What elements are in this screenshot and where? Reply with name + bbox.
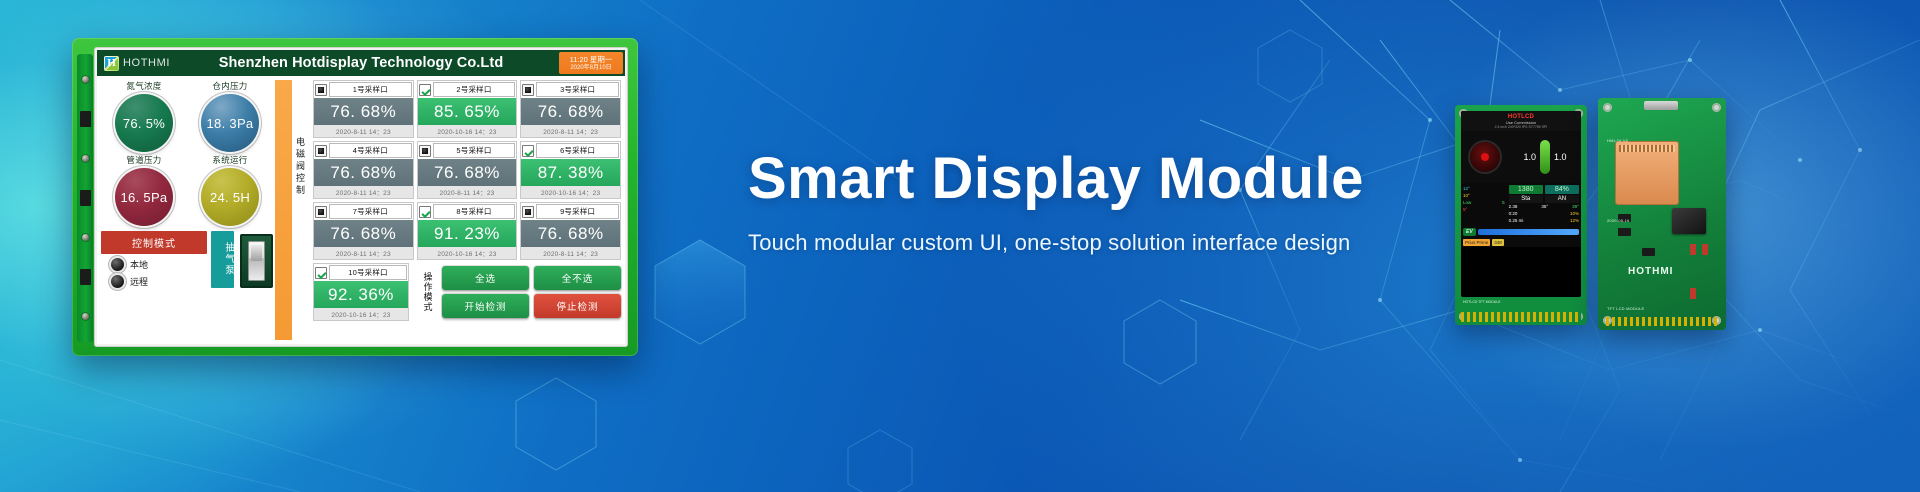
- gauge-label: 氮气浓度: [101, 80, 187, 92]
- lcd-box-84: 84%: [1545, 185, 1579, 194]
- operation-buttons: 全选 全不选 开始检测 停止检测: [442, 263, 621, 321]
- sample-header: 10号采样口: [314, 264, 408, 281]
- sample-header: 9号采样口: [521, 203, 620, 220]
- ev-badge: EV: [1463, 228, 1476, 236]
- checkbox-icon[interactable]: [522, 206, 534, 218]
- sample-timestamp: 2020-8-11 14：23: [314, 186, 413, 198]
- sample-timestamp: 2020-8-11 14：23: [418, 186, 517, 198]
- sample-card[interactable]: 5号采样口 76. 68% 2020-8-11 14：23: [417, 141, 518, 199]
- sample-value: 76. 68%: [314, 159, 413, 186]
- lcd-midsection: 1.0 1.0: [1461, 131, 1581, 183]
- lcd-stat-row: 10°: [1463, 192, 1505, 199]
- mounting-hole-icon: [82, 76, 89, 83]
- lcd-module-board: HOTLCD Use Commission 2.4 inch 240*320 I…: [1455, 105, 1587, 325]
- lcd-stat-label: 5°: [1463, 207, 1467, 212]
- usb-connector-icon: [1644, 101, 1678, 110]
- sample-name: 2号采样口: [433, 82, 516, 97]
- gauge-cell: 仓内压力 18. 3Pa: [187, 80, 273, 152]
- capacitor-icon: [1702, 244, 1708, 255]
- sample-timestamp: 2020-10-16 14：23: [521, 186, 620, 198]
- control-mode-panel: 控制模式 本地 远程: [101, 231, 207, 288]
- lcd-row-238: 2.38: [1509, 204, 1518, 209]
- radio-icon[interactable]: [111, 258, 124, 271]
- company-title: Shenzhen Hotdisplay Technology Co.Ltd: [97, 55, 625, 71]
- sample-value: 76. 68%: [418, 159, 517, 186]
- sample-name: 9号采样口: [536, 204, 619, 219]
- lcd-gauge-box: 1.0 1.0: [1509, 131, 1581, 183]
- clock-widget: 11:20 星期一 2020年8月10日: [559, 52, 623, 74]
- sample-name: 4号采样口: [329, 143, 412, 158]
- start-detection-button[interactable]: 开始检测: [442, 294, 529, 318]
- chip-icon: [80, 190, 91, 206]
- sample-timestamp: 2020-8-11 14：23: [314, 247, 413, 259]
- sample-name: 1号采样口: [329, 82, 412, 97]
- prius-badge: Prius Prime: [1463, 239, 1490, 246]
- sample-timestamp: 2020-8-11 14：23: [314, 125, 413, 137]
- pin-header-icon: [1606, 317, 1718, 326]
- device-side-pcb: [77, 54, 93, 342]
- lcd-left-stats: 12° 10° Low 5 5°: [1461, 183, 1507, 226]
- lcd-box-row: 1380 84%: [1509, 185, 1579, 194]
- sample-header: 6号采样口: [521, 142, 620, 159]
- gauge-label: 管道压力: [101, 154, 187, 166]
- radio-option-local[interactable]: 本地: [101, 254, 207, 271]
- lcd-row-12pct: 12%: [1570, 218, 1579, 223]
- sample-timestamp: 2020-10-16 14：23: [418, 125, 517, 137]
- lcd-right-stats: 1380 84% Sta AN 2.38 35° 39° 0:20 10%: [1507, 183, 1581, 226]
- operation-mode-label: 操作模式: [416, 263, 438, 321]
- screen-header: H HOTHMI Shenzhen Hotdisplay Technology …: [97, 50, 625, 76]
- lcd-stat-row: 0.25 mi 12%: [1509, 217, 1579, 224]
- sample-card[interactable]: 7号采样口 76. 68% 2020-8-11 14：23: [313, 202, 414, 260]
- sample-value: 85. 65%: [418, 98, 517, 125]
- mounting-hole-icon: [82, 313, 89, 320]
- gauge-value: 16. 5Pa: [115, 168, 173, 226]
- sample-name: 7号采样口: [329, 204, 412, 219]
- sample-name: 6号采样口: [536, 143, 619, 158]
- radio-option-remote[interactable]: 远程: [101, 271, 207, 288]
- rocker-switch-icon[interactable]: [248, 241, 265, 281]
- sample-value: 76. 68%: [521, 98, 620, 125]
- mounting-hole-icon: [82, 155, 89, 162]
- lcd-row-39: 39°: [1572, 204, 1579, 209]
- lcd-row-020: 0:20: [1509, 211, 1518, 216]
- sample-name: 3号采样口: [536, 82, 619, 97]
- lcd-stat-row: 0:20 10%: [1509, 210, 1579, 217]
- smd-chip-icon: [1642, 248, 1655, 256]
- radio-icon[interactable]: [111, 275, 124, 288]
- gauge-cell: 管道压力 16. 5Pa: [101, 154, 187, 226]
- deselect-all-button[interactable]: 全不选: [534, 266, 621, 290]
- lcd-box-row: Sta AN: [1509, 195, 1579, 203]
- ffc-connector-icon: [1616, 142, 1678, 204]
- sample-card[interactable]: 1号采样口 76. 68% 2020-8-11 14：23: [313, 80, 414, 138]
- screen-bezel: H HOTHMI Shenzhen Hotdisplay Technology …: [94, 47, 628, 347]
- sample-value: 76. 68%: [521, 220, 620, 247]
- sample-timestamp: 2020-8-11 14：23: [521, 247, 620, 259]
- button-row: 全选 全不选: [442, 266, 621, 290]
- sample-value: 92. 36%: [314, 281, 408, 308]
- number-badge: 348: [1492, 239, 1504, 246]
- sample-header: 2号采样口: [418, 81, 517, 98]
- chip-icon: [80, 111, 91, 127]
- lcd-stat-label: 10°: [1463, 193, 1470, 198]
- gauge-label: 系统运行: [187, 154, 273, 166]
- sample-timestamp: 2020-10-16 14：23: [314, 308, 408, 320]
- stop-detection-button[interactable]: 停止检测: [534, 294, 621, 318]
- pin-header-icon: [1461, 312, 1581, 322]
- gauge-grid: 氮气浓度 76. 5% 仓内压力 18. 3Pa 管道压力 16. 5Pa: [101, 80, 273, 228]
- lcd-spec: 2.4 inch 240*320 IPS ST7789 SPI: [1464, 125, 1578, 129]
- lcd-board-footer: HOTLCD TFT MODULE: [1461, 300, 1581, 322]
- lcd-stat-value: 5: [1502, 200, 1505, 205]
- silk-label: HMI-24-V2: [1607, 138, 1628, 143]
- checkbox-icon[interactable]: [419, 84, 431, 96]
- gauge-value: 76. 5%: [115, 94, 173, 152]
- sample-header: 3号采样口: [521, 81, 620, 98]
- screen-body: 氮气浓度 76. 5% 仓内压力 18. 3Pa 管道压力 16. 5Pa: [97, 76, 625, 344]
- capacitor-icon: [1690, 244, 1696, 255]
- operation-area: 操作模式 全选 全不选 开始检测 停止检测: [412, 263, 621, 321]
- sample-name: 10号采样口: [329, 265, 407, 280]
- checkbox-icon[interactable]: [522, 145, 534, 157]
- sample-card[interactable]: 3号采样口 76. 68% 2020-8-11 14：23: [520, 80, 621, 138]
- sample-card[interactable]: 6号采样口 87. 38% 2020-10-16 14：23: [520, 141, 621, 199]
- lcd-footer: EV: [1461, 226, 1581, 238]
- capacitor-icon: [1690, 288, 1696, 299]
- lcd-stat-label: 12°: [1463, 186, 1470, 191]
- select-all-button[interactable]: 全选: [442, 266, 529, 290]
- sample-value: 91. 23%: [418, 220, 517, 247]
- checkbox-icon[interactable]: [315, 84, 327, 96]
- lcd-dial-box: [1461, 131, 1509, 183]
- sample-card[interactable]: 2号采样口 85. 65% 2020-10-16 14：23: [417, 80, 518, 138]
- clock-time: 11:20 星期一: [559, 55, 623, 64]
- valve-control-label: 电磁阀控制: [292, 76, 310, 344]
- lcd-value-right: 1.0: [1554, 152, 1567, 162]
- gauge-label: 仓内压力: [187, 80, 273, 92]
- mounting-hole-icon: [1712, 103, 1721, 112]
- gauge-value: 18. 3Pa: [201, 94, 259, 152]
- pcb-module-board: HMI-24-V2 2020-08-16 TFT LCD MODULE HOTH…: [1598, 98, 1726, 330]
- silk-label: 2020-08-16: [1607, 218, 1629, 223]
- pump-label: 抽气泵: [211, 231, 234, 288]
- chip-icon: [80, 269, 91, 285]
- lcd-unit-sta: Sta: [1509, 195, 1543, 203]
- accent-band: [275, 80, 292, 340]
- checkbox-icon[interactable]: [522, 84, 534, 96]
- sample-card[interactable]: 9号采样口 76. 68% 2020-8-11 14：23: [520, 202, 621, 260]
- control-mode-title: 控制模式: [101, 231, 207, 254]
- progress-bar: [1478, 229, 1579, 235]
- sample-header: 1号采样口: [314, 81, 413, 98]
- sampling-bottom-row: 10号采样口 92. 36% 2020-10-16 14：23 操作模式 全选: [313, 263, 621, 321]
- lcd-stat-label: Low: [1463, 200, 1471, 205]
- lcd-stat-row: 12°: [1463, 185, 1505, 192]
- button-row: 开始检测 停止检测: [442, 294, 621, 318]
- sample-header: 8号采样口: [418, 203, 517, 220]
- sample-card[interactable]: 10号采样口 92. 36% 2020-10-16 14：23: [313, 263, 409, 321]
- smd-chip-icon: [1618, 228, 1631, 236]
- rocker-switch[interactable]: [240, 234, 273, 288]
- sample-header: 4号采样口: [314, 142, 413, 159]
- lcd-row-35: 35°: [1541, 204, 1548, 209]
- lcd-stat-row: Low 5: [1463, 199, 1505, 206]
- hmi-screen: H HOTHMI Shenzhen Hotdisplay Technology …: [97, 50, 625, 344]
- sample-card[interactable]: 4号采样口 76. 68% 2020-8-11 14：23: [313, 141, 414, 199]
- sample-timestamp: 2020-8-11 14：23: [521, 125, 620, 137]
- radio-label: 本地: [130, 258, 148, 271]
- ic-chip-icon: [1672, 208, 1706, 234]
- lcd-value-left: 1.0: [1523, 152, 1536, 162]
- vertical-bar-icon: [1540, 140, 1550, 174]
- radio-label: 远程: [130, 275, 148, 288]
- lcd-row-025: 0.25 mi: [1509, 218, 1524, 223]
- lcd-row-10pct: 10%: [1570, 211, 1579, 216]
- sampling-grid: 1号采样口 76. 68% 2020-8-11 14：23 2号采样口: [313, 80, 621, 260]
- board-silkscreen: HOTLCD TFT MODULE: [1463, 300, 1501, 304]
- brand-silkscreen: HOTHMI: [1628, 266, 1673, 277]
- checkbox-icon[interactable]: [315, 267, 327, 279]
- mounting-hole-icon: [82, 234, 89, 241]
- lcd-header: HOTLCD Use Commission 2.4 inch 240*320 I…: [1461, 111, 1581, 131]
- sample-value: 87. 38%: [521, 159, 620, 186]
- headline-block: Smart Display Module Touch modular custo…: [748, 150, 1448, 256]
- sample-header: 7号采样口: [314, 203, 413, 220]
- lcd-screen: HOTLCD Use Commission 2.4 inch 240*320 I…: [1461, 111, 1581, 297]
- clock-date: 2020年8月10日: [559, 64, 623, 72]
- lcd-footer-2: Prius Prime 348: [1461, 238, 1581, 247]
- page-subtitle: Touch modular custom UI, one-stop soluti…: [748, 230, 1448, 256]
- page-title: Smart Display Module: [748, 150, 1448, 208]
- lcd-stat-row: 5°: [1463, 206, 1505, 213]
- lcd-unit-an: AN: [1545, 195, 1579, 203]
- checkbox-icon[interactable]: [315, 206, 327, 218]
- sample-name: 8号采样口: [433, 204, 516, 219]
- sample-header: 5号采样口: [418, 142, 517, 159]
- sample-value: 76. 68%: [314, 220, 413, 247]
- checkbox-icon[interactable]: [419, 145, 431, 157]
- lcd-stat-row: 2.38 35° 39°: [1509, 203, 1579, 210]
- sample-card[interactable]: 8号采样口 91. 23% 2020-10-16 14：23: [417, 202, 518, 260]
- gauge-cell: 氮气浓度 76. 5%: [101, 80, 187, 152]
- gauge-value: 24. 5H: [201, 168, 259, 226]
- checkbox-icon[interactable]: [315, 145, 327, 157]
- sample-name: 5号采样口: [433, 143, 516, 158]
- hmi-device: H HOTHMI Shenzhen Hotdisplay Technology …: [72, 38, 638, 356]
- gauge-cell: 系统运行 24. 5H: [187, 154, 273, 226]
- gauges-panel: 氮气浓度 76. 5% 仓内压力 18. 3Pa 管道压力 16. 5Pa: [97, 76, 275, 344]
- control-mode-block: 控制模式 本地 远程 抽气泵: [101, 231, 273, 288]
- sample-timestamp: 2020-10-16 14：23: [418, 247, 517, 259]
- lcd-data-rows: 12° 10° Low 5 5° 1380: [1461, 183, 1581, 226]
- banner-root: Smart Display Module Touch modular custo…: [0, 0, 1920, 492]
- sampling-panel: 1号采样口 76. 68% 2020-8-11 14：23 2号采样口: [310, 76, 625, 344]
- silk-label: TFT LCD MODULE: [1607, 306, 1644, 311]
- sample-value: 76. 68%: [314, 98, 413, 125]
- lcd-box-1380: 1380: [1509, 185, 1543, 194]
- mounting-hole-icon: [1603, 103, 1612, 112]
- checkbox-icon[interactable]: [419, 206, 431, 218]
- dial-icon: [1470, 142, 1500, 172]
